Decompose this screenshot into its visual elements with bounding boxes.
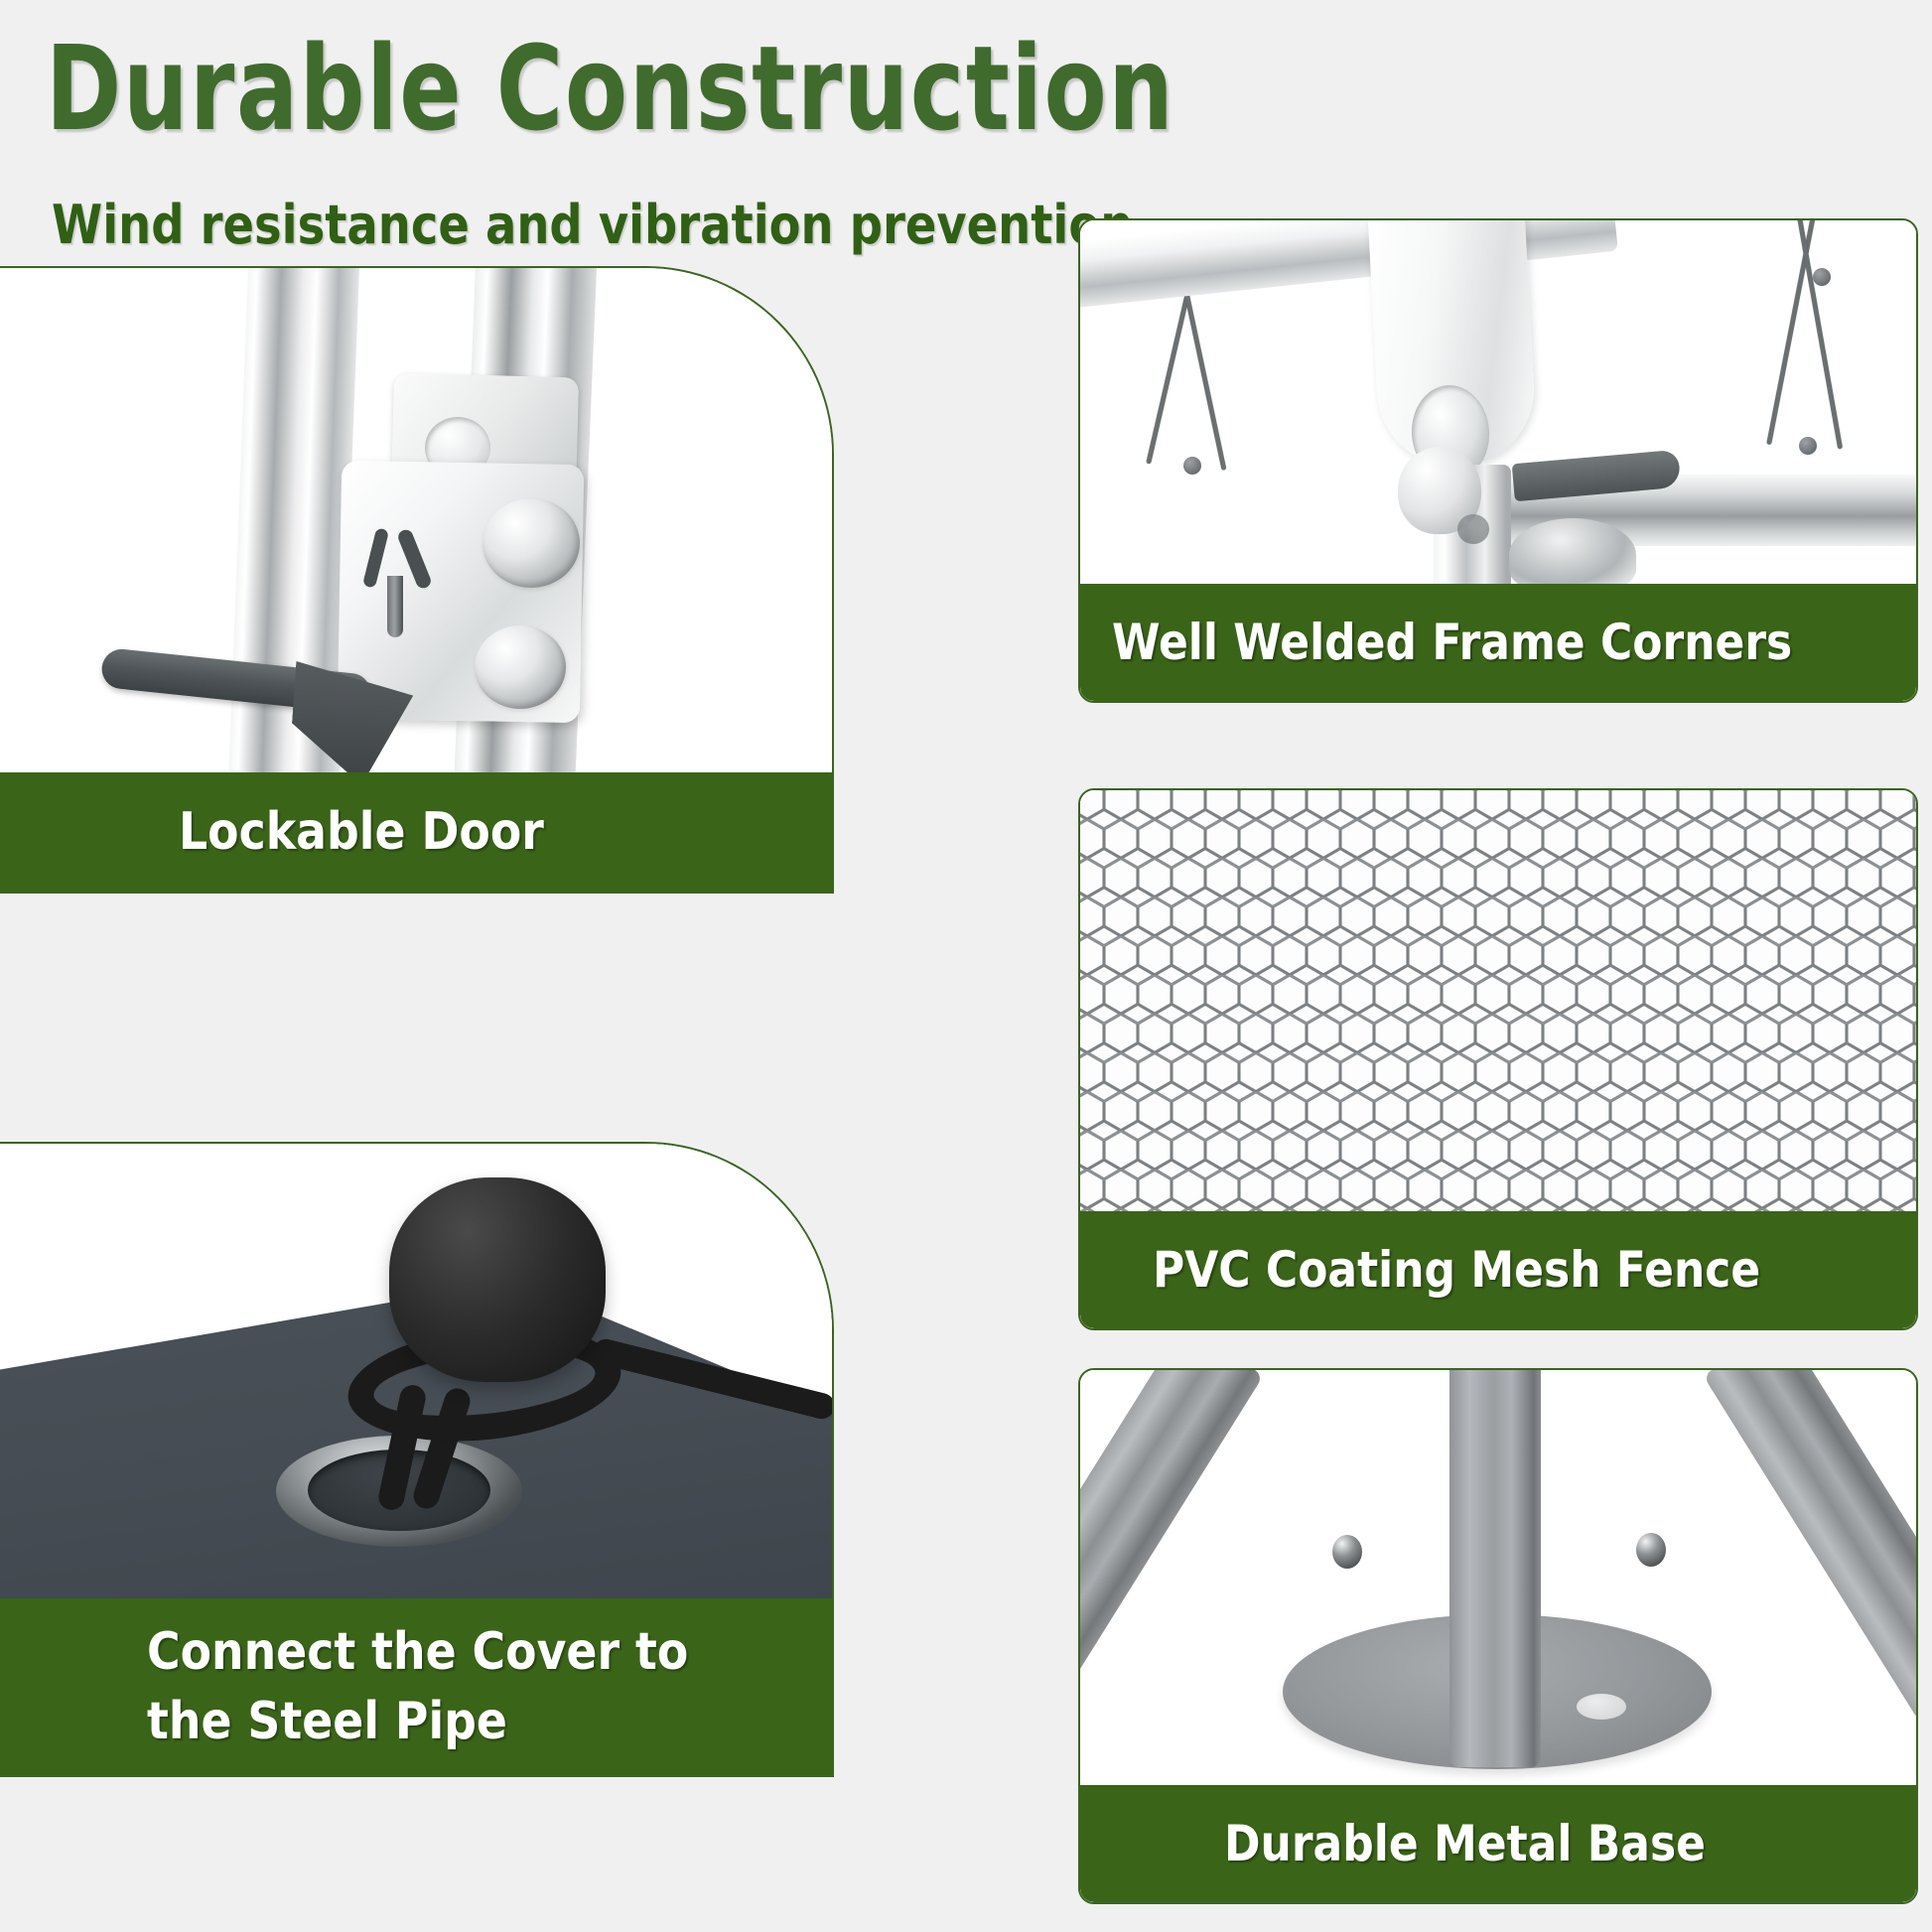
feature-panel-lockable-door[interactable]: Lockable Door: [0, 266, 834, 894]
feature-panel-connect-cover[interactable]: Connect the Cover tothe Steel Pipe: [0, 1142, 834, 1777]
feature-panel-pvc-mesh[interactable]: PVC Coating Mesh Fence: [1078, 788, 1918, 1330]
page-title: Durable Construction: [46, 30, 1174, 147]
cover-bungee-illustration: [0, 1144, 832, 1610]
caption-bar-metal-base: Durable Metal Base: [1080, 1785, 1916, 1902]
metal-base-illustration: [1080, 1370, 1916, 1785]
page-subtitle: Wind resistance and vibration prevention: [52, 199, 1133, 252]
caption-text-welded-corners: Well Welded Frame Corners: [1112, 614, 1792, 671]
caption-bar-connect-cover: Connect the Cover tothe Steel Pipe: [0, 1598, 832, 1775]
base-bolt-right-icon: [1636, 1533, 1666, 1567]
feature-panel-metal-base[interactable]: Durable Metal Base: [1078, 1368, 1918, 1904]
caption-bar-lockable-door: Lockable Door: [0, 772, 832, 892]
caption-bar-pvc-mesh: PVC Coating Mesh Fence: [1080, 1211, 1916, 1328]
caption-text-connect-cover-line2: the Steel Pipe: [147, 1687, 688, 1756]
rivet-boss-lower-icon: [475, 625, 566, 709]
brace-node-left-icon: [1183, 457, 1201, 475]
caption-text-lockable-door: Lockable Door: [179, 802, 544, 862]
welded-corner-illustration: [1080, 220, 1916, 584]
caption-text-connect-cover-line1: Connect the Cover to: [147, 1617, 688, 1687]
hexagon-mesh-icon: [1080, 790, 1916, 1221]
bungee-ball-icon: [389, 1177, 606, 1382]
lockable-door-illustration: [0, 268, 832, 776]
bolt-hole-icon: [1457, 514, 1489, 544]
base-bolt-left-icon: [1332, 1535, 1362, 1569]
brace-node-right-icon: [1799, 437, 1817, 455]
hex-mesh-illustration: [1080, 790, 1916, 1211]
feature-panel-welded-corners[interactable]: Well Welded Frame Corners: [1078, 218, 1918, 703]
lower-socket-icon: [1509, 518, 1636, 592]
brace-node-top-icon: [1813, 268, 1831, 286]
base-plate-stake-hole-icon: [1577, 1694, 1626, 1720]
caption-bar-welded-corners: Well Welded Frame Corners: [1080, 584, 1916, 701]
caption-text-connect-cover: Connect the Cover tothe Steel Pipe: [147, 1617, 688, 1756]
frame-top-tube-icon: [1080, 220, 1618, 309]
base-right-leg-icon: [1703, 1370, 1916, 1723]
y-hook-icon: [367, 528, 431, 639]
brace-wire-3-icon: [1766, 220, 1817, 445]
rivet-boss-upper-icon: [483, 498, 580, 588]
caption-text-pvc-mesh: PVC Coating Mesh Fence: [1153, 1241, 1760, 1299]
base-center-post-icon: [1449, 1370, 1541, 1767]
brace-wire-4-icon: [1796, 220, 1843, 450]
caption-text-metal-base: Durable Metal Base: [1224, 1815, 1706, 1872]
base-left-leg-icon: [1080, 1370, 1264, 1723]
